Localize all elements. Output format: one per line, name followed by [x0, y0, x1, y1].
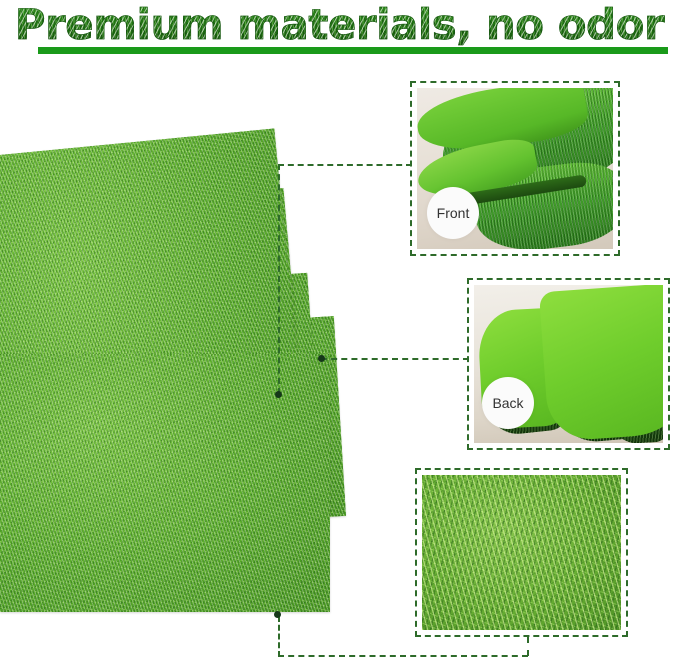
- grass-mat-stack: [0, 104, 344, 616]
- connector-to-front-vertical: [278, 164, 280, 394]
- panel-back[interactable]: Back: [467, 278, 670, 450]
- connector-to-front-dot: [275, 391, 282, 398]
- front-photo: Front: [417, 88, 613, 249]
- page-title: Premium materials, no odor: [0, 2, 679, 48]
- connector-to-closeup-vertical: [278, 616, 280, 657]
- connector-to-closeup-horizontal: [278, 655, 528, 657]
- connector-to-front-horizontal: [278, 164, 412, 166]
- back-backing-main: [539, 285, 663, 442]
- connector-to-closeup-dot: [274, 611, 281, 618]
- connector-to-back-dot: [318, 355, 325, 362]
- product-infographic: Premium materials, no odor Front: [0, 0, 679, 662]
- grass-closeup-photo: [422, 475, 621, 630]
- connector-to-back-horizontal: [321, 358, 469, 360]
- panel-front[interactable]: Front: [410, 81, 620, 256]
- connector-to-closeup-riser: [527, 637, 529, 656]
- back-label-badge: Back: [482, 377, 534, 429]
- panel-grass-closeup[interactable]: [415, 468, 628, 637]
- title-underline: [38, 47, 668, 54]
- front-label-badge: Front: [427, 187, 479, 239]
- back-photo: Back: [474, 285, 663, 443]
